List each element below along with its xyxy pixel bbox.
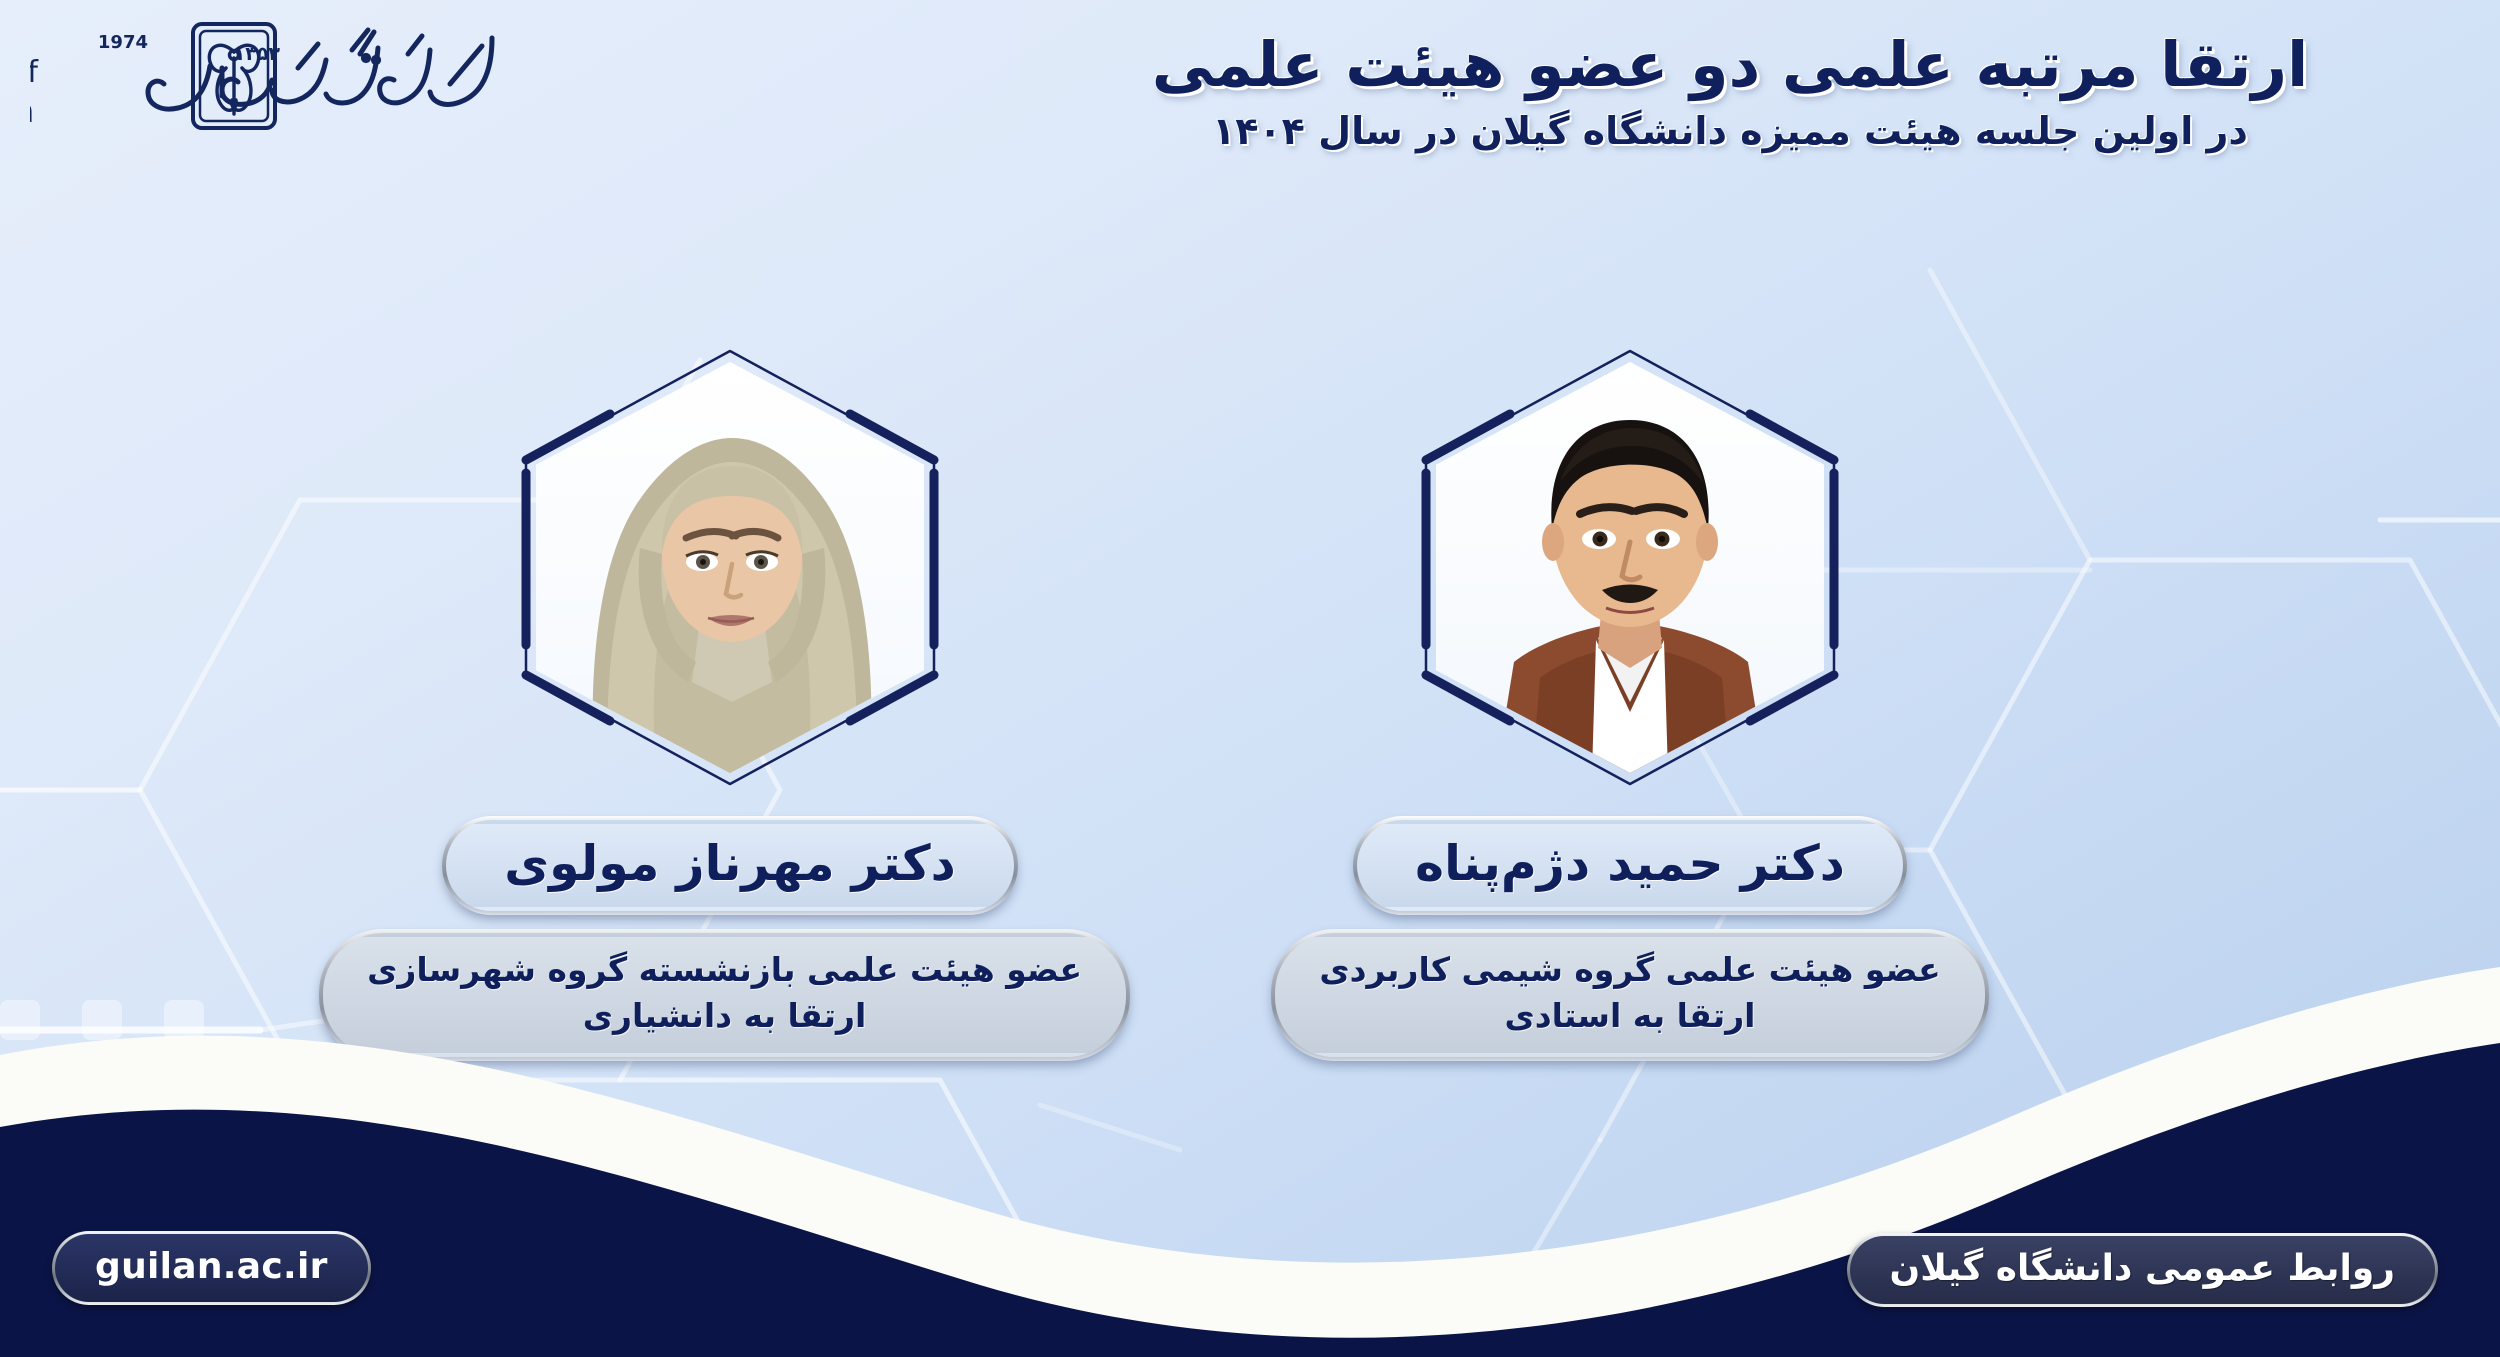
honoree-name: دکتر حمید دژم‌پناه (1415, 835, 1845, 892)
university-logo: 1974 University of Guilan ۱۳۵۳ (30, 10, 500, 140)
poster-canvas: 1974 University of Guilan ۱۳۵۳ (0, 0, 2500, 1357)
honoree-name-badge: دکتر مهرناز مولوی (330, 816, 1130, 915)
logo-en-line1: University of (30, 55, 39, 90)
logo-year-en: 1974 (98, 32, 148, 53)
logo-year-fa: ۱۳۵۳ (234, 43, 281, 65)
honoree-name: دکتر مهرناز مولوی (504, 835, 956, 892)
photo-hexagon-frame (520, 345, 940, 790)
public-relations-badge: روابط عمومی دانشگاه گیلان (1847, 1233, 2438, 1307)
website-badge[interactable]: guilan.ac.ir (52, 1231, 371, 1305)
photo-hexagon-frame (1420, 345, 1840, 790)
page-title: ارتقا مرتبه علمی دو عضو هیئت علمی (1030, 28, 2430, 101)
honoree-name-badge: دکتر حمید دژم‌پناه (1230, 816, 2030, 915)
page-subtitle: در اولین جلسه هیئت ممیزه دانشگاه گیلان د… (1030, 107, 2430, 156)
hexagon-border (520, 345, 940, 790)
public-relations-label: روابط عمومی دانشگاه گیلان (1890, 1248, 2395, 1289)
logo-en-line2: Guilan (30, 92, 40, 130)
title-block: ارتقا مرتبه علمی دو عضو هیئت علمی در اول… (1030, 28, 2430, 157)
website-url: guilan.ac.ir (95, 1246, 328, 1287)
hexagon-border (1420, 345, 1840, 790)
